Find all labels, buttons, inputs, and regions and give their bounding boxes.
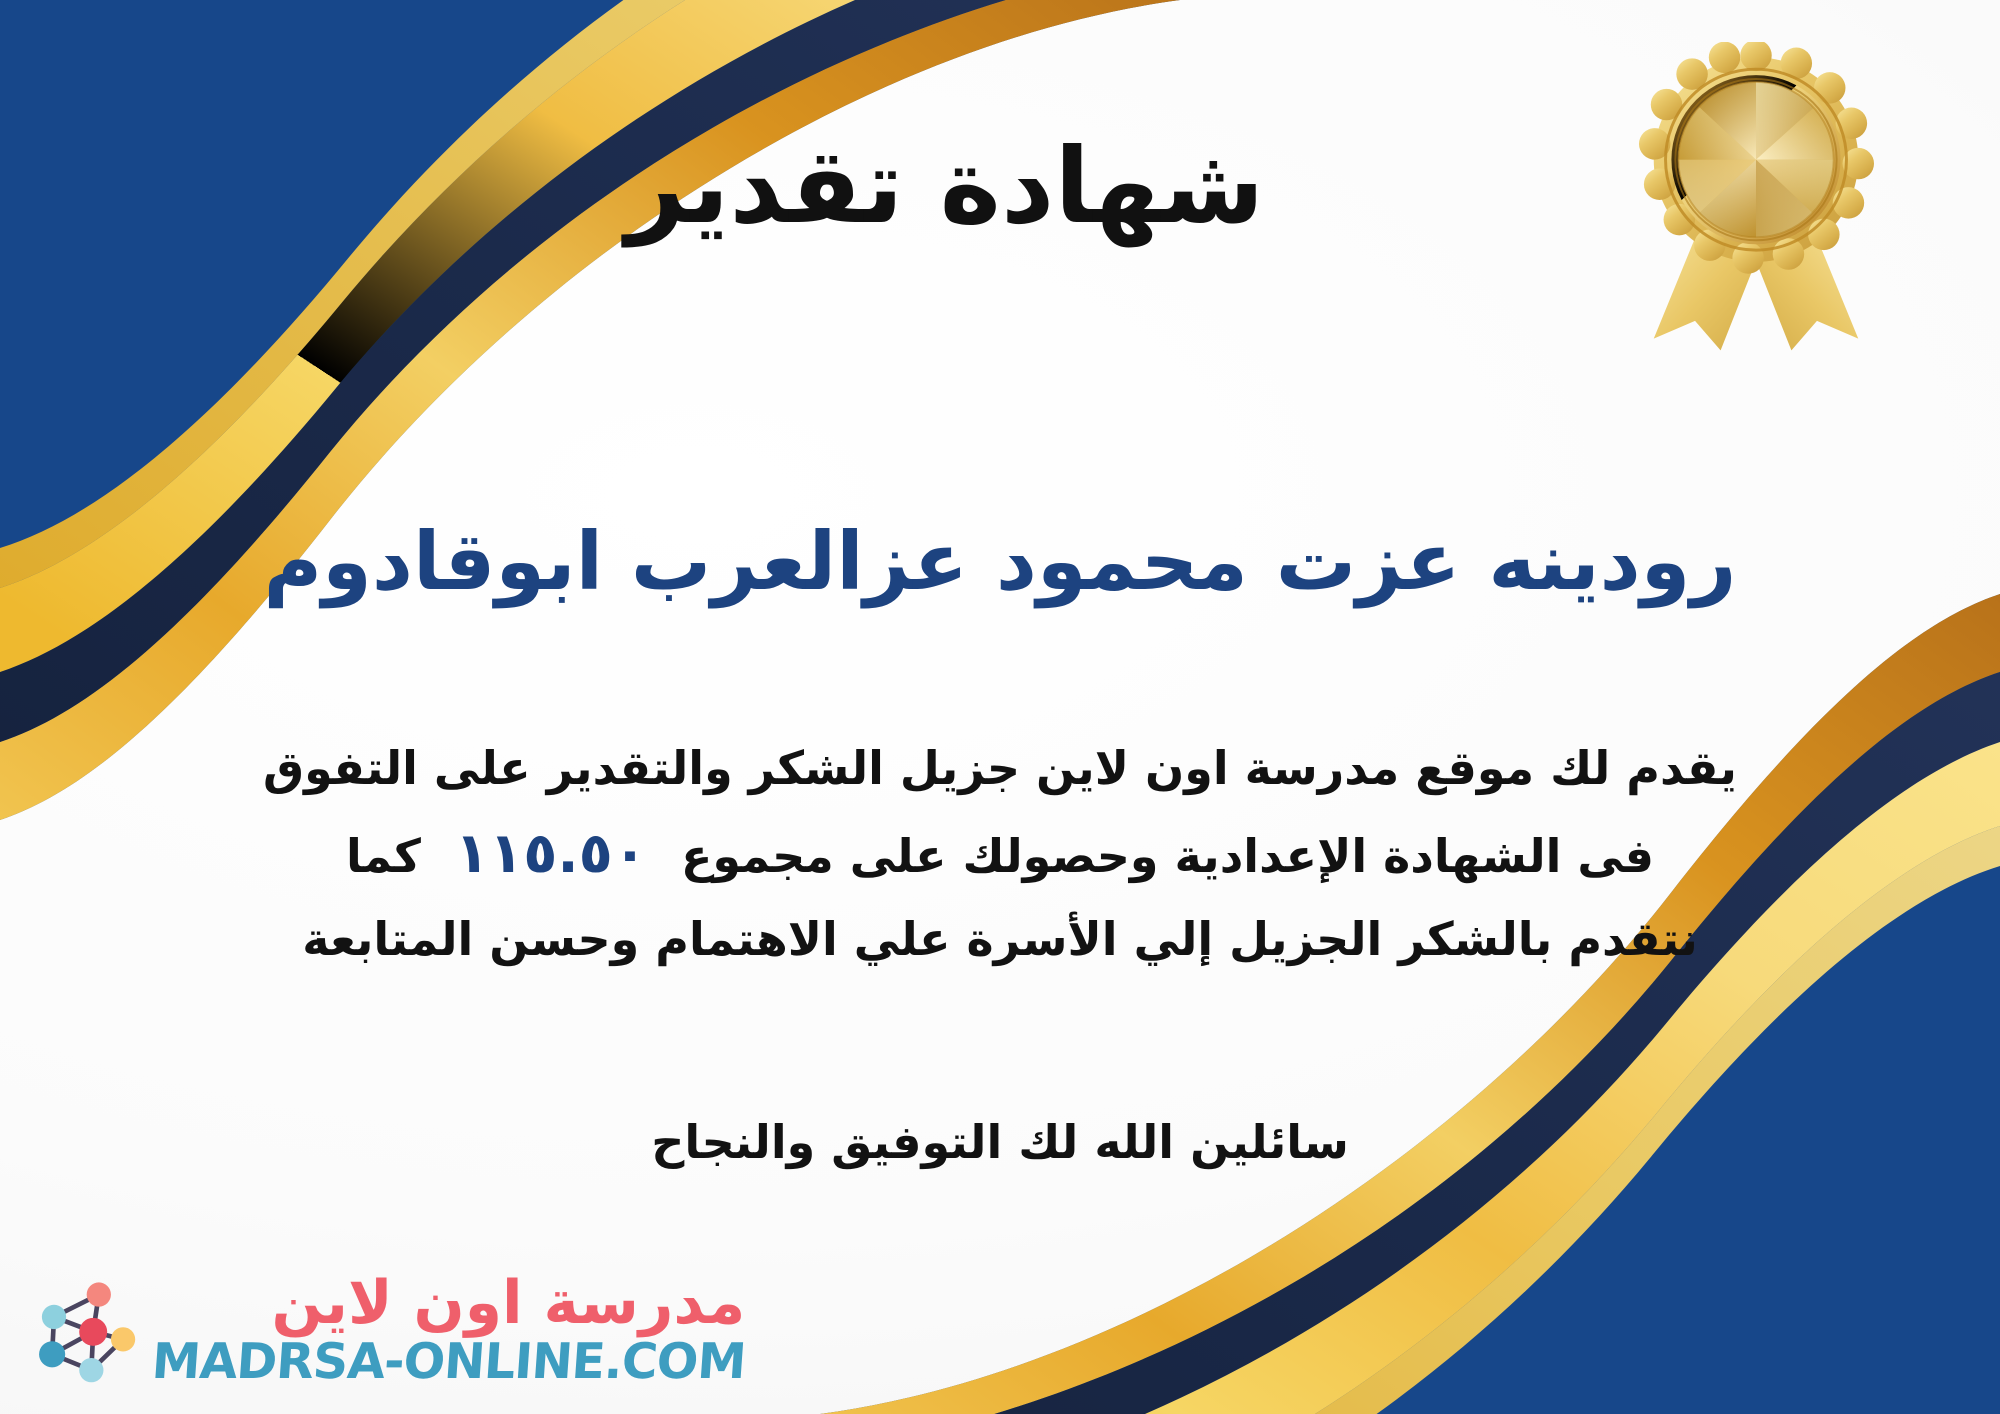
total-score-value: ١١٥.٥٠ bbox=[421, 821, 681, 886]
body-line-2-right: فى الشهادة الإعدادية وحصولك على مجموع bbox=[681, 829, 1654, 883]
body-line-3: نتقدم بالشكر الجزيل إلي الأسرة علي الاهت… bbox=[70, 901, 1930, 978]
body-line-1: يقدم لك موقع مدرسة اون لاين جزيل الشكر و… bbox=[70, 730, 1930, 807]
site-logo[interactable]: مدرسة اون لاين MADRSA-ONLINE.COM bbox=[26, 1273, 745, 1386]
closing-wish: سائلين الله لك التوفيق والنجاح bbox=[0, 1108, 2000, 1177]
body-line-2: فى الشهادة الإعدادية وحصولك على مجموع١١٥… bbox=[70, 807, 1930, 901]
certificate-body: يقدم لك موقع مدرسة اون لاين جزيل الشكر و… bbox=[0, 730, 2000, 979]
body-line-2-left: كما bbox=[346, 829, 421, 883]
logo-arabic-text: مدرسة اون لاين bbox=[271, 1273, 745, 1333]
logo-english-text: MADRSA-ONLINE.COM bbox=[150, 1337, 747, 1386]
recipient-name: رودينه عزت محمود عزالعرب ابوقادوم bbox=[0, 516, 2000, 608]
gold-award-medal-icon bbox=[1638, 42, 1874, 352]
network-nodes-icon bbox=[26, 1274, 138, 1386]
certificate-canvas: شهادة تقدير رودينه عزت محمود عزالعرب ابو… bbox=[0, 0, 2000, 1414]
logo-wordmark: مدرسة اون لاين MADRSA-ONLINE.COM bbox=[152, 1273, 745, 1386]
